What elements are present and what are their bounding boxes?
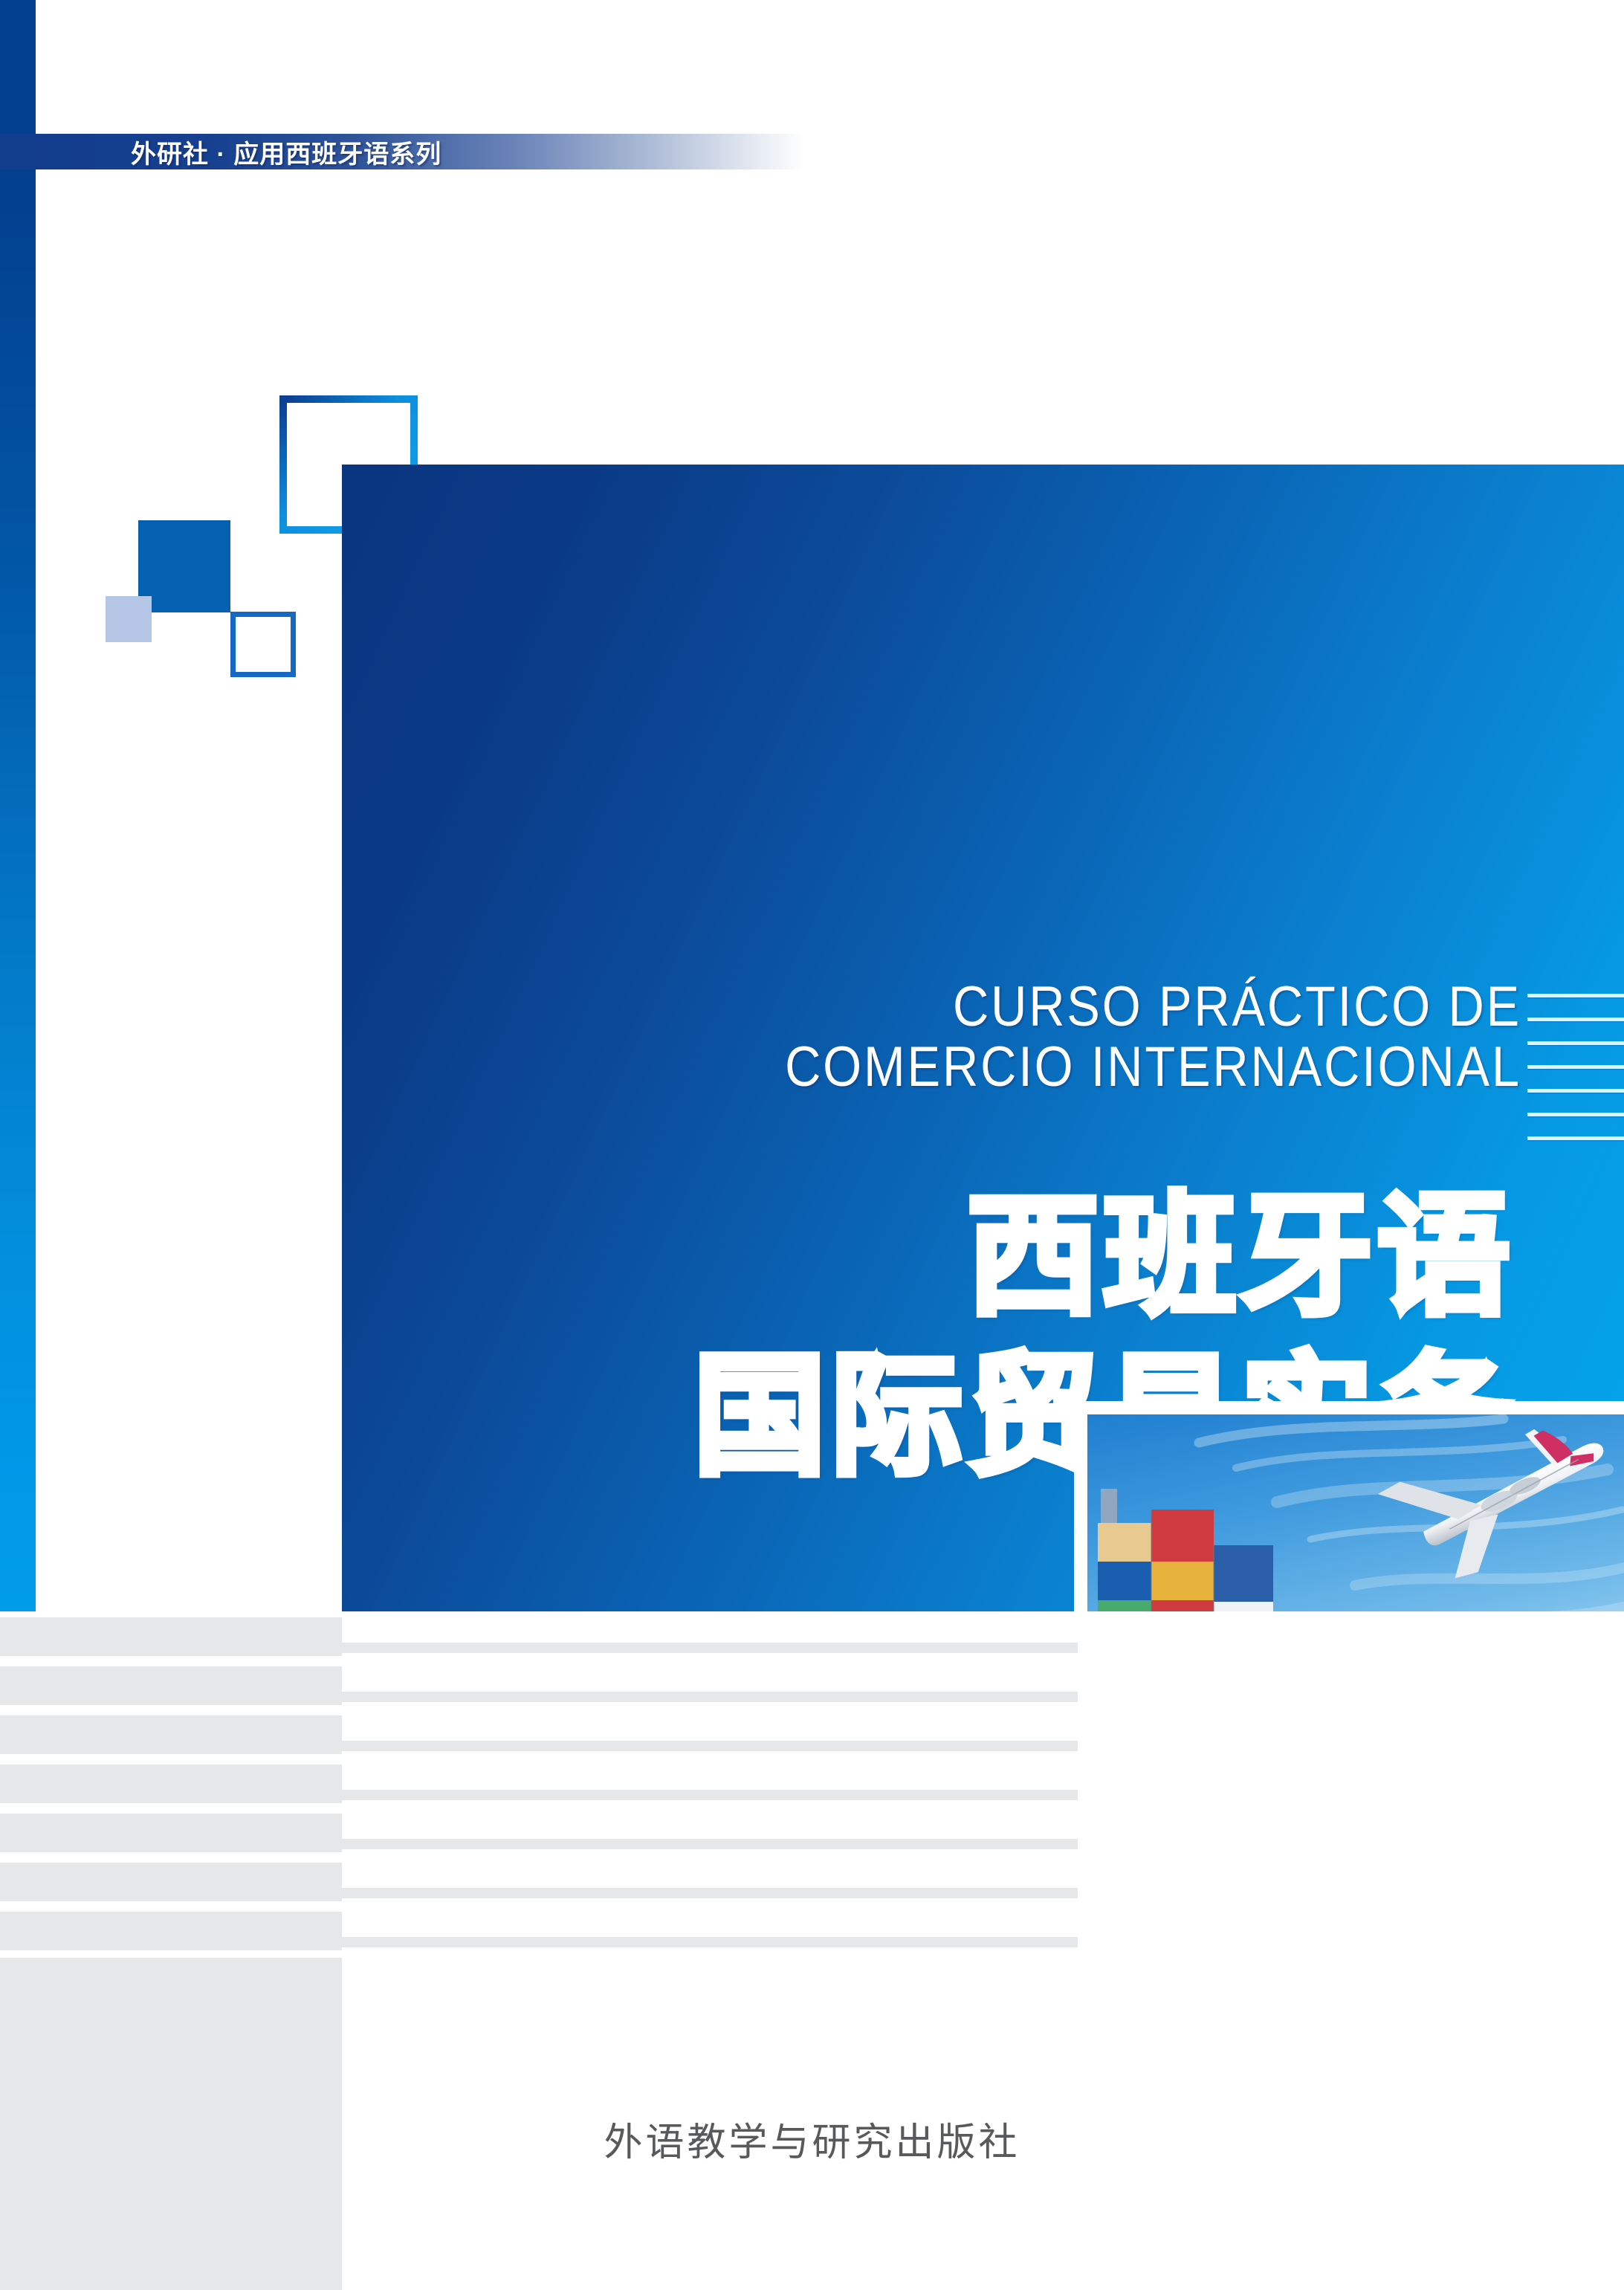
bottom-stripe bbox=[0, 1715, 342, 1754]
bottom-stripe bbox=[342, 1888, 1078, 1898]
bottom-stripes-left bbox=[0, 1611, 342, 2290]
bottom-stripe bbox=[342, 1937, 1078, 1947]
decor-rule bbox=[1527, 994, 1624, 997]
bottom-stripe bbox=[0, 1863, 342, 1901]
bottom-stripe bbox=[342, 1839, 1078, 1849]
decor-rule bbox=[1527, 1018, 1624, 1021]
decor-rule bbox=[1527, 1089, 1624, 1093]
left-accent-bar bbox=[0, 0, 36, 1611]
decor-solid-square-small bbox=[106, 596, 152, 642]
bottom-stripe bbox=[0, 1912, 342, 1950]
book-cover: 外研社 · 应用西班牙语系列 CURSO PRÁCTICO DE COMERCI… bbox=[0, 0, 1624, 2290]
bottom-stripe-zone bbox=[0, 1611, 1624, 2290]
bottom-stripes-right bbox=[342, 1611, 1078, 2028]
bottom-stripe bbox=[342, 1741, 1078, 1751]
decor-rule bbox=[1527, 1065, 1624, 1069]
bottom-stripe bbox=[342, 1692, 1078, 1702]
decor-rule bbox=[1527, 1041, 1624, 1045]
decor-solid-square-medium bbox=[138, 520, 230, 612]
series-banner-label: 外研社 · 应用西班牙语系列 bbox=[131, 134, 441, 170]
decor-rule-stack bbox=[1527, 994, 1624, 1160]
publisher-name: 外语教学与研究出版社 bbox=[0, 2111, 1624, 2167]
decor-rule bbox=[1527, 1113, 1624, 1116]
decor-outline-square-small bbox=[230, 612, 296, 677]
bottom-stripe bbox=[0, 1666, 342, 1705]
main-title-line-1: 西班牙语 bbox=[693, 1177, 1514, 1336]
bottom-stripe bbox=[0, 1765, 342, 1803]
bottom-stripe bbox=[342, 1790, 1078, 1800]
bottom-stripe bbox=[342, 1643, 1078, 1653]
spanish-title: CURSO PRÁCTICO DE COMERCIO INTERNACIONAL bbox=[527, 977, 1521, 1097]
series-banner: 外研社 · 应用西班牙语系列 bbox=[0, 134, 804, 169]
decor-rule bbox=[1527, 1136, 1624, 1140]
bottom-stripe bbox=[0, 1617, 342, 1656]
spanish-title-line-1: CURSO PRÁCTICO DE bbox=[953, 975, 1521, 1038]
spanish-title-line-2: COMERCIO INTERNACIONAL bbox=[527, 1038, 1521, 1098]
bottom-stripe bbox=[0, 1814, 342, 1852]
